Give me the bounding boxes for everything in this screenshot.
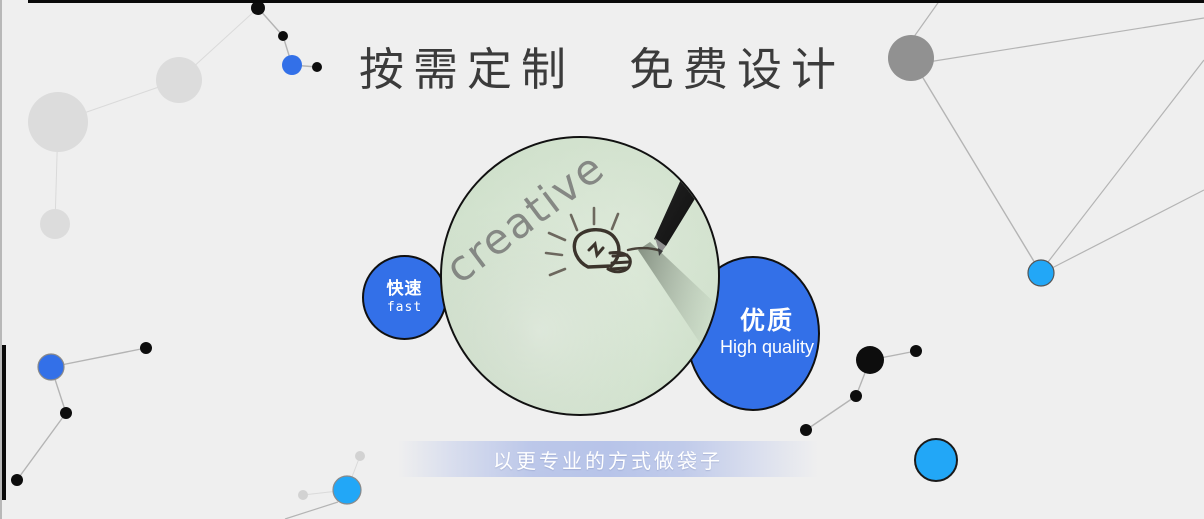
network-node-n11 [11, 474, 23, 486]
creative-photo-circle: creative [440, 136, 720, 416]
top-divider-rule [28, 0, 1204, 3]
network-node-n12 [333, 476, 361, 504]
network-node-n6 [28, 92, 88, 152]
network-node-n7 [40, 209, 70, 239]
bubble-fast-en-label: fast [387, 300, 422, 316]
network-node-n13 [298, 490, 308, 500]
feature-bubble-fast[interactable]: 快速 fast [362, 255, 447, 340]
network-node-n20 [800, 424, 812, 436]
network-node-n2 [278, 31, 288, 41]
network-node-n17 [856, 346, 884, 374]
network-node-n14 [355, 451, 365, 461]
photo-artwork [442, 138, 718, 414]
network-node-n16 [1028, 260, 1054, 286]
tagline-text: 以更专业的方式做袋子 [493, 445, 723, 474]
banner-canvas: 按需定制 免费设计 [0, 0, 1204, 519]
tagline-ribbon: 以更专业的方式做袋子 [398, 441, 818, 477]
page-title: 按需定制 免费设计 [0, 47, 1204, 92]
left-divider-rule [2, 345, 6, 500]
network-node-n9 [140, 342, 152, 354]
network-node-n21 [915, 439, 957, 481]
bubble-quality-cn-label: 优质 [740, 308, 794, 334]
network-node-n10 [60, 407, 72, 419]
network-node-n18 [910, 345, 922, 357]
network-node-n19 [850, 390, 862, 402]
network-node-n1 [251, 1, 265, 15]
bubble-quality-en-label: High quality [720, 337, 814, 359]
bubble-fast-cn-label: 快速 [387, 280, 423, 298]
network-node-n8 [38, 354, 64, 380]
